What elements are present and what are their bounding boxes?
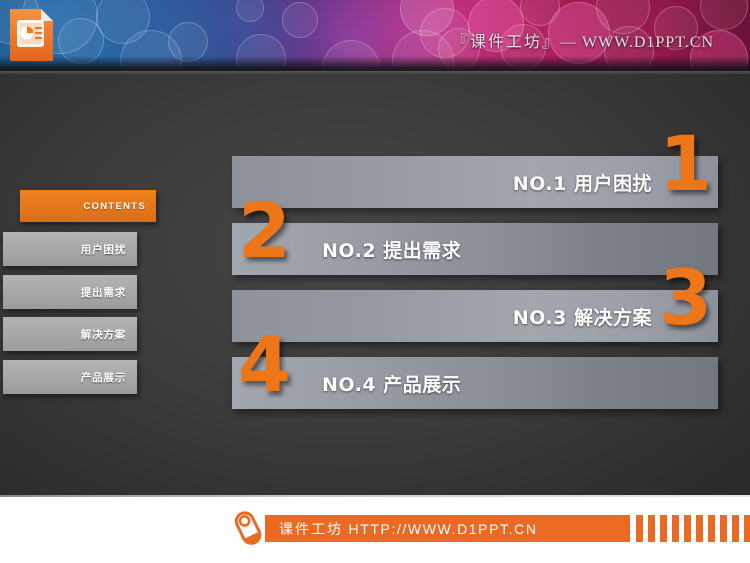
footer-strip: 课件工坊 HTTP://WWW.D1PPT.CN — [265, 515, 630, 542]
footer-text-cn: 课件工坊 — [279, 522, 343, 538]
banner-title-url: WWW.D1PPT.CN — [582, 34, 714, 51]
content-row-label: NO.3 解决方案 — [513, 290, 652, 342]
content-row-label: NO.4 产品展示 — [322, 357, 461, 409]
bokeh-circle — [282, 2, 318, 38]
content-row-label: NO.2 提出需求 — [322, 223, 461, 275]
sidebar-item-0[interactable]: 用户困扰 — [3, 232, 137, 266]
footer-bar — [696, 515, 703, 542]
sidebar-item-label: 解决方案 — [81, 327, 126, 342]
content-row-number: 2 — [238, 193, 291, 269]
banner-title: 『课件工坊』— WWW.D1PPT.CN — [452, 28, 714, 52]
sidebar-item-label: 用户困扰 — [81, 242, 126, 257]
sidebar-contents-label: CONTENTS — [83, 201, 146, 212]
content-row-4[interactable]: NO.4 产品展示 4 — [232, 357, 718, 409]
sidebar-item-label: 提出需求 — [81, 285, 126, 300]
content-row-number: 4 — [238, 327, 291, 403]
content-row-3[interactable]: NO.3 解决方案 3 — [232, 290, 718, 342]
banner-bottom-fade — [0, 56, 750, 72]
footer-bar — [636, 515, 643, 542]
slide-stage: CONTENTS 用户困扰 提出需求 解决方案 产品展示 NO.1 用户困扰 1… — [0, 71, 750, 495]
sidebar-item-1[interactable]: 提出需求 — [3, 275, 137, 309]
content-row-bar — [232, 223, 718, 275]
content-row-number: 1 — [659, 126, 712, 202]
footer-bar — [648, 515, 655, 542]
footer-bar — [672, 515, 679, 542]
sidebar-item-3[interactable]: 产品展示 — [3, 360, 137, 394]
content-row-1[interactable]: NO.1 用户困扰 1 — [232, 156, 718, 208]
footer: 课件工坊 HTTP://WWW.D1PPT.CN — [0, 495, 750, 563]
footer-divider — [0, 495, 750, 497]
stage-top-sheen — [0, 71, 750, 74]
banner-title-dash: — — [560, 34, 582, 51]
top-banner: 『课件工坊』— WWW.D1PPT.CN — [0, 0, 750, 72]
sidebar-item-label: 产品展示 — [81, 370, 126, 385]
content-row-number: 3 — [659, 260, 712, 336]
footer-text-url: HTTP://WWW.D1PPT.CN — [349, 521, 538, 537]
footer-bar — [732, 515, 739, 542]
content-row-2[interactable]: NO.2 提出需求 2 — [232, 223, 718, 275]
footer-bars — [636, 515, 750, 542]
footer-bar — [744, 515, 750, 542]
powerpoint-document-icon — [8, 7, 55, 63]
content-row-label: NO.1 用户困扰 — [513, 156, 652, 208]
footer-bar — [708, 515, 715, 542]
footer-bar — [720, 515, 727, 542]
slide-root: 『课件工坊』— WWW.D1PPT.CN CONTENTS 用户困扰 提出需求 … — [0, 0, 750, 563]
sidebar-contents-button[interactable]: CONTENTS — [20, 190, 156, 222]
pencil-icon — [228, 508, 270, 554]
sidebar-item-2[interactable]: 解决方案 — [3, 317, 137, 351]
content-row-bar — [232, 357, 718, 409]
banner-title-cn: 『课件工坊』 — [452, 32, 560, 51]
footer-bar — [660, 515, 667, 542]
footer-bar — [684, 515, 691, 542]
